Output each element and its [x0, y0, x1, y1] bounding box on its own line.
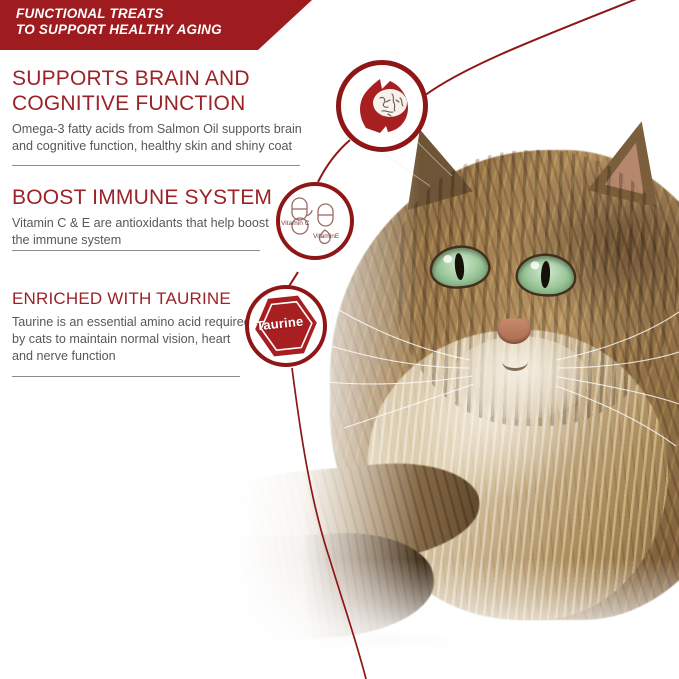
cat-head-brain-icon	[336, 60, 428, 152]
feature-taurine-body: Taurine is an essential amino acid requi…	[12, 314, 262, 365]
feature-brain: SUPPORTS BRAIN AND COGNITIVE FUNCTION Om…	[12, 66, 312, 155]
cat-muzzle	[452, 336, 588, 420]
divider-2	[12, 250, 260, 251]
infographic-canvas: FUNCTIONAL TREATS TO SUPPORT HEALTHY AGI…	[0, 0, 679, 679]
feature-taurine-heading: ENRICHED WITH TAURINE	[12, 288, 262, 309]
feature-brain-heading: SUPPORTS BRAIN AND COGNITIVE FUNCTION	[12, 66, 312, 116]
brain-glyph	[346, 70, 418, 142]
cat-pupil-left	[454, 253, 465, 281]
feature-immune-heading: BOOST IMMUNE SYSTEM	[12, 185, 284, 210]
feature-immune: BOOST IMMUNE SYSTEM Vitamin C & E are an…	[12, 185, 284, 249]
feature-brain-body: Omega-3 fatty acids from Salmon Oil supp…	[12, 121, 312, 155]
banner-text: FUNCTIONAL TREATS TO SUPPORT HEALTHY AGI…	[16, 6, 222, 38]
cat-mouth	[502, 352, 528, 371]
vitamin-c-label: Vitamin C	[281, 220, 309, 227]
feature-taurine: ENRICHED WITH TAURINE Taurine is an esse…	[12, 288, 262, 365]
cat-eye-glint-left	[443, 255, 453, 264]
divider-1	[12, 165, 300, 166]
divider-3	[12, 376, 240, 377]
feature-immune-body: Vitamin C & E are antioxidants that help…	[12, 215, 284, 249]
photo-fade-bottom	[0, 559, 679, 679]
banner: FUNCTIONAL TREATS TO SUPPORT HEALTHY AGI…	[0, 0, 312, 50]
cat-pupil-right	[540, 261, 550, 288]
vitamin-e-label: VitaminE	[313, 233, 339, 240]
cat-eye-glint-right	[530, 261, 539, 269]
